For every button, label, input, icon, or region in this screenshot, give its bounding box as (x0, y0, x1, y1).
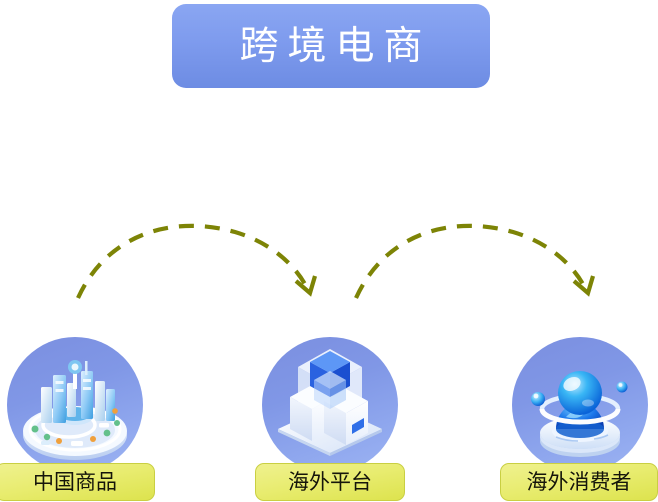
flow-node-overseas-platform[interactable]: 海外平台 (250, 337, 410, 502)
page-title: 跨境电商 (230, 27, 431, 66)
flow-node-overseas-consumer[interactable]: 海外消费者 (500, 337, 658, 502)
node-circle (7, 337, 143, 473)
stacked-boxes-icon (262, 337, 398, 473)
node-circle (512, 337, 648, 473)
arrow-1 (78, 226, 315, 298)
node-label-overseas-platform[interactable]: 海外平台 (255, 463, 405, 501)
flow-node-china-goods[interactable]: 中国商品 (0, 337, 155, 502)
node-label-overseas-consumer[interactable]: 海外消费者 (500, 463, 658, 501)
city-skyline-icon (7, 337, 143, 473)
node-label-text: 海外消费者 (527, 472, 632, 493)
node-label-text: 海外平台 (288, 472, 372, 493)
diagram-canvas: 跨境电商 .dash-path { fill: none; stroke: #7… (0, 0, 658, 500)
node-label-china-goods[interactable]: 中国商品 (0, 463, 155, 501)
title-banner: 跨境电商 (172, 4, 490, 88)
node-circle (262, 337, 398, 473)
orbit-sphere-icon (512, 337, 648, 473)
arrow-2 (356, 226, 593, 298)
node-label-text: 中国商品 (33, 472, 117, 493)
